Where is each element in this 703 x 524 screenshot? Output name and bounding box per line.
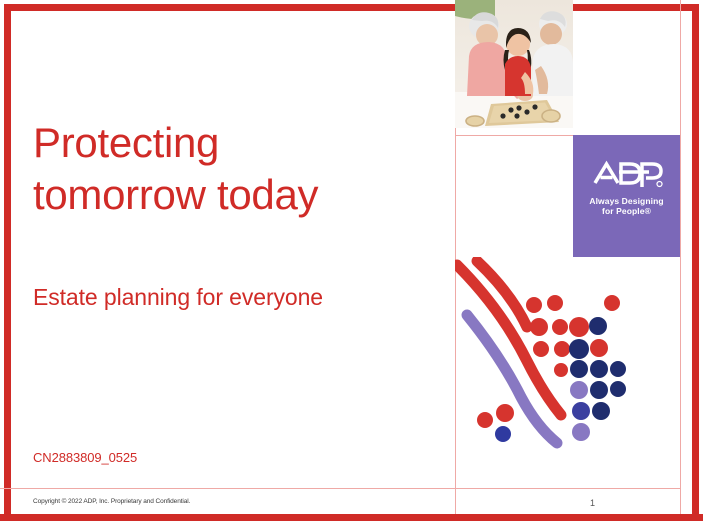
page-subtitle: Estate planning for everyone bbox=[33, 283, 453, 311]
page-title: Protecting tomorrow today bbox=[33, 117, 433, 221]
layout-guide-vertical-right bbox=[680, 0, 681, 514]
adp-logo-panel: Always Designing for People® bbox=[573, 135, 680, 257]
slide-border-left bbox=[4, 4, 11, 517]
slide-canvas: Always Designing for People® bbox=[0, 0, 703, 524]
family-photo bbox=[455, 0, 573, 128]
slide-border-top bbox=[4, 4, 699, 11]
page-number: 1 bbox=[590, 498, 595, 508]
adp-logo-icon bbox=[590, 157, 664, 191]
slide-border-right bbox=[692, 4, 699, 517]
slide-border-bottom bbox=[0, 514, 703, 521]
copyright-notice: Copyright © 2022 ADP, Inc. Proprietary a… bbox=[33, 498, 190, 505]
layout-guide-horizontal-bottom bbox=[0, 488, 681, 489]
adp-dot-graphic-svg bbox=[455, 257, 635, 457]
adp-logo-tagline: Always Designing for People® bbox=[573, 196, 680, 216]
adp-logo-lockup: Always Designing for People® bbox=[573, 157, 680, 216]
adp-dot-graphic bbox=[455, 257, 635, 457]
family-photo-illustration bbox=[455, 0, 573, 128]
document-code: CN2883809_0525 bbox=[33, 450, 137, 465]
